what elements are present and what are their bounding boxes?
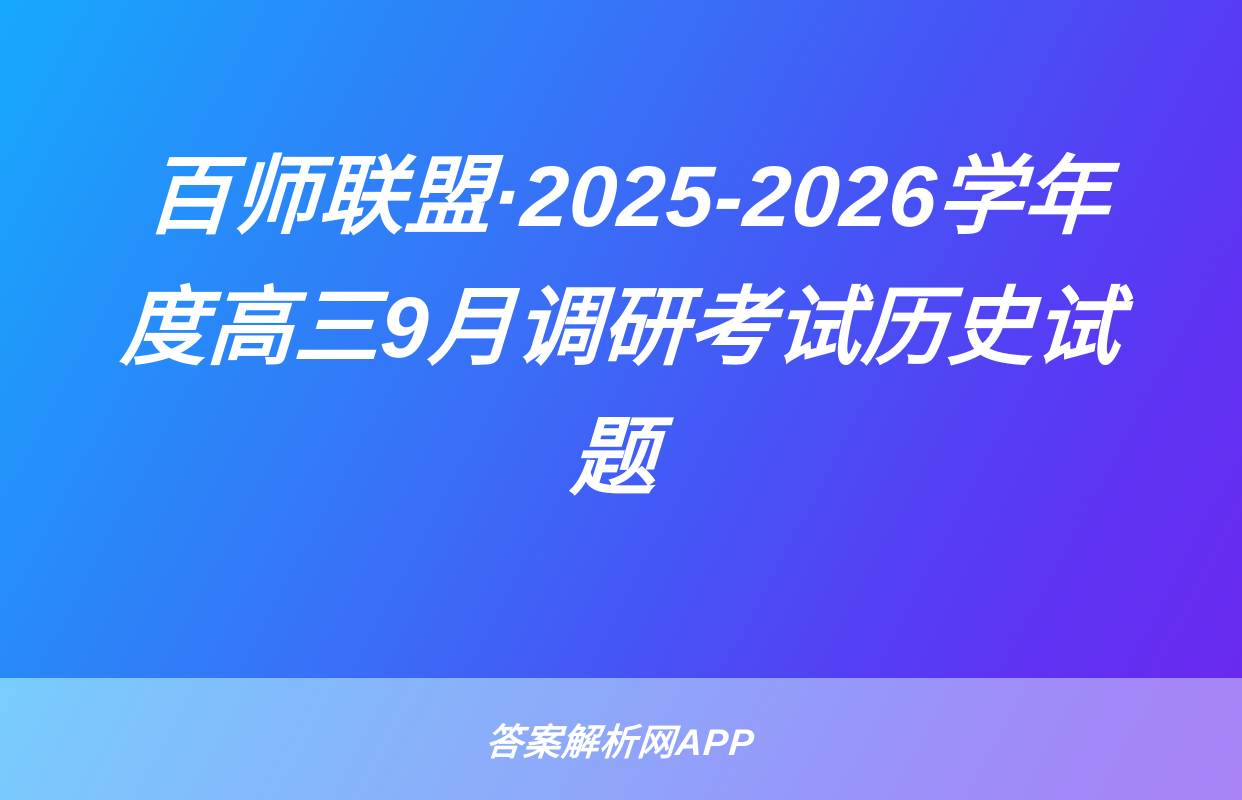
page-title: 百师联盟·2025-2026学年度高三9月调研考试历史试题 [86,132,1157,524]
title-block: 百师联盟·2025-2026学年度高三9月调研考试历史试题 [0,0,1242,678]
exam-paper-cover-poster: 百师联盟·2025-2026学年度高三9月调研考试历史试题 答案解析网APP [0,0,1242,800]
watermark-block: 答案解析网APP [0,678,1242,800]
app-watermark-label: 答案解析网APP [484,712,758,766]
